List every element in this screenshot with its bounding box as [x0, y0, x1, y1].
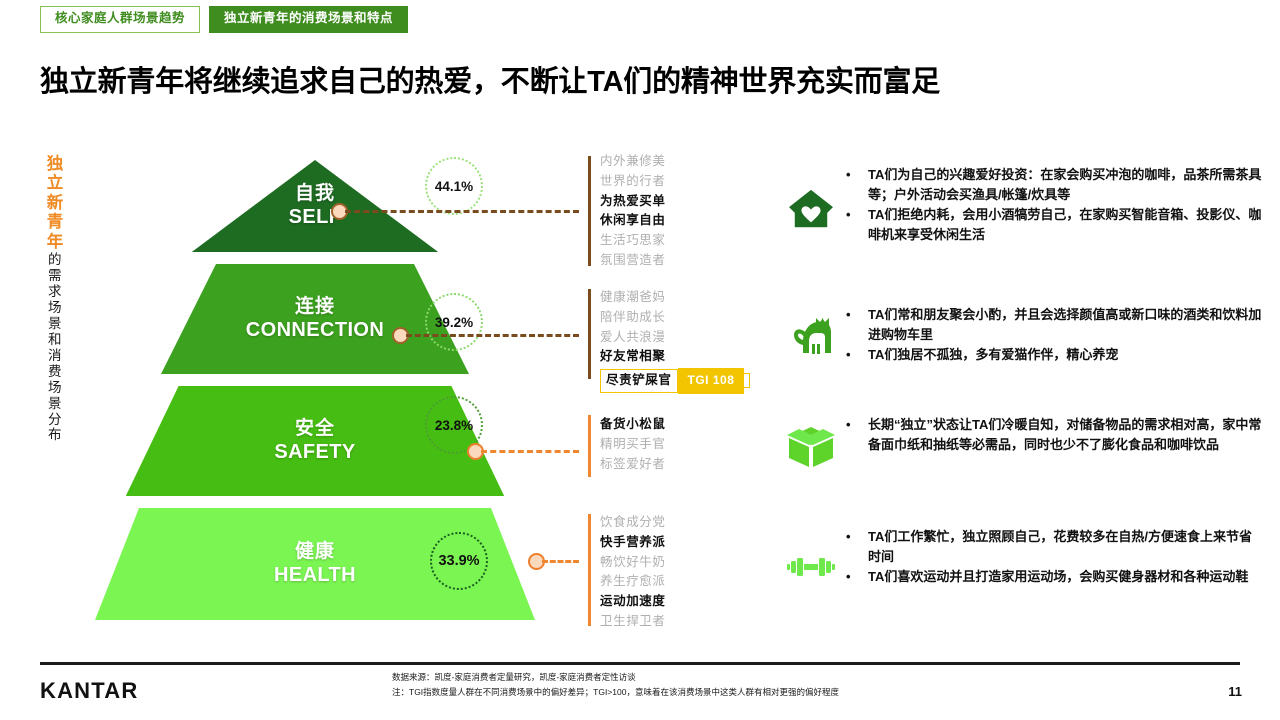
insight-list-health: • TA们工作繁忙，独立照顾自己，花费较多在自热/方便速食上来节省时间 • TA…: [846, 527, 1264, 587]
bullet-marker: •: [846, 567, 868, 587]
percent-badge-health: 33.9%: [430, 532, 488, 590]
trait-item: 备货小松鼠: [600, 415, 666, 435]
tier-label-en-safety: SAFETY: [274, 440, 355, 464]
insight-text: TA们喜欢运动并且打造家用运动场，会购买健身器材和各种运动鞋: [868, 567, 1264, 587]
trait-item: 世界的行者: [600, 172, 666, 192]
connector-bar-safety: [588, 415, 591, 477]
vertical-label-rest: 的需求场景和消费场景分布: [42, 252, 68, 443]
tgi-trait-name: 尽责铲屎官: [600, 369, 678, 394]
source-note: 数据来源：凯度-家庭消费者定量研究，凯度-家庭消费者定性访谈 注：TGI指数度量…: [392, 670, 839, 700]
insight-item: • TA们独居不孤独，多有爱猫作伴，精心养宠: [846, 345, 1264, 365]
connector-line-safety: [481, 450, 579, 453]
page-number: 11: [1228, 684, 1242, 699]
source-line-2: 注：TGI指数度量人群在不同消费场景中的偏好差异；TGI>100，意味着在该消费…: [392, 685, 839, 700]
insight-text: TA们常和朋友聚会小酌，并且会选择颜值高或新口味的酒类和饮料加进购物车里: [868, 305, 1264, 345]
connector-line-self: [345, 210, 579, 213]
trait-item: 好友常相聚: [600, 347, 750, 367]
insight-item: • TA们拒绝内耗，会用小酒犒劳自己，在家购买智能音箱、投影仪、咖啡机来享受休闲…: [846, 205, 1264, 245]
tgi-badge: TGI 108: [678, 368, 745, 394]
trait-item: 内外兼修美: [600, 152, 666, 172]
trait-item: 卫生捍卫者: [600, 612, 666, 632]
trait-item: 生活巧思家: [600, 231, 666, 251]
insight-list-self: • TA们为自己的兴趣爱好投资：在家会购买冲泡的咖啡，品茶所需茶具等；户外活动会…: [846, 165, 1264, 246]
trait-list-health: 饮食成分党 快手营养派 畅饮好牛奶 养生疗愈派 运动加速度 卫生捍卫者: [600, 513, 666, 632]
percent-badge-connection: 39.2%: [425, 293, 483, 351]
page-title: 独立新青年将继续追求自己的热爱，不断让TA们的精神世界充实而富足: [40, 58, 940, 100]
bullet-marker: •: [846, 415, 868, 435]
tab-bar: 核心家庭人群场景趋势 独立新青年的消费场景和特点: [40, 6, 408, 33]
bullet-marker: •: [846, 345, 868, 365]
trait-item: 饮食成分党: [600, 513, 666, 533]
trait-item: 运动加速度: [600, 592, 666, 612]
insight-text: TA们拒绝内耗，会用小酒犒劳自己，在家购买智能音箱、投影仪、咖啡机来享受休闲生活: [868, 205, 1264, 245]
insight-item: • TA们喜欢运动并且打造家用运动场，会购买健身器材和各种运动鞋: [846, 567, 1264, 587]
insight-item: • TA们常和朋友聚会小酌，并且会选择颜值高或新口味的酒类和饮料加进购物车里: [846, 305, 1264, 345]
trait-list-connection: 健康潮爸妈 陪伴助成长 爱人共浪漫 好友常相聚 尽责铲屎官 TGI 108: [600, 288, 750, 394]
tier-label-cn-safety: 安全: [274, 418, 355, 440]
trait-item: 爱人共浪漫: [600, 328, 750, 348]
footer-divider: [40, 662, 1240, 665]
tab-core-family[interactable]: 核心家庭人群场景趋势: [40, 6, 200, 33]
connector-line-connection: [406, 334, 579, 337]
tier-label-cn-health: 健康: [274, 541, 356, 563]
source-line-1: 数据来源：凯度-家庭消费者定量研究，凯度-家庭消费者定性访谈: [392, 670, 839, 685]
trait-item: 休闲享自由: [600, 211, 666, 231]
tier-label-en-connection: CONNECTION: [246, 318, 384, 342]
trait-item: 快手营养派: [600, 533, 666, 553]
bullet-marker: •: [846, 305, 868, 325]
tier-label-cn-self: 自我: [289, 183, 342, 205]
insight-list-safety: • 长期“独立”状态让TA们冷暖自知，对储备物品的需求相对高，家中常备面巾纸和抽…: [846, 415, 1264, 455]
trait-item: 养生疗愈派: [600, 572, 666, 592]
trait-item: 畅饮好牛奶: [600, 553, 666, 573]
home-heart-icon: [782, 180, 840, 238]
vertical-label-highlight: 独立新青年: [42, 155, 68, 252]
cat-icon: [782, 308, 840, 366]
trait-item: 陪伴助成长: [600, 308, 750, 328]
insight-text: TA们为自己的兴趣爱好投资：在家会购买冲泡的咖啡，品茶所需茶具等；户外活动会买渔…: [868, 165, 1264, 205]
insight-text: TA们独居不孤独，多有爱猫作伴，精心养宠: [868, 345, 1264, 365]
trait-item: 健康潮爸妈: [600, 288, 750, 308]
insight-text: 长期“独立”状态让TA们冷暖自知，对储备物品的需求相对高，家中常备面巾纸和抽纸等…: [868, 415, 1264, 455]
trait-item: 氛围营造者: [600, 251, 666, 271]
tier-label-cn-connection: 连接: [246, 296, 384, 318]
bullet-marker: •: [846, 527, 868, 547]
tab-independent-youth[interactable]: 独立新青年的消费场景和特点: [209, 6, 408, 33]
tier-label-en-health: HEALTH: [274, 563, 356, 587]
trait-item: 标签爱好者: [600, 455, 666, 475]
insight-item: • 长期“独立”状态让TA们冷暖自知，对储备物品的需求相对高，家中常备面巾纸和抽…: [846, 415, 1264, 455]
tgi-badge-cap: [744, 373, 750, 388]
connector-bar-connection: [588, 289, 591, 379]
insight-text: TA们工作繁忙，独立照顾自己，花费较多在自热/方便速食上来节省时间: [868, 527, 1264, 567]
open-box-icon: [782, 418, 840, 476]
dumbbell-icon: [782, 538, 840, 596]
insight-list-connection: • TA们常和朋友聚会小酌，并且会选择颜值高或新口味的酒类和饮料加进购物车里 •…: [846, 305, 1264, 365]
vertical-axis-label: 独立新青年 的需求场景和消费场景分布: [42, 155, 68, 443]
bullet-marker: •: [846, 165, 868, 185]
connector-bar-health: [588, 514, 591, 626]
trait-list-safety: 备货小松鼠 精明买手官 标签爱好者: [600, 415, 666, 474]
insight-item: • TA们工作繁忙，独立照顾自己，花费较多在自热/方便速食上来节省时间: [846, 527, 1264, 567]
insight-item: • TA们为自己的兴趣爱好投资：在家会购买冲泡的咖啡，品茶所需茶具等；户外活动会…: [846, 165, 1264, 205]
trait-list-self: 内外兼修美 世界的行者 为热爱买单 休闲享自由 生活巧思家 氛围营造者: [600, 152, 666, 271]
trait-item: 精明买手官: [600, 435, 666, 455]
percent-badge-self: 44.1%: [425, 157, 483, 215]
kantar-logo: KANTAR: [40, 678, 138, 704]
connector-line-health: [542, 560, 579, 563]
tgi-highlight-row: 尽责铲屎官 TGI 108: [600, 368, 750, 394]
bullet-marker: •: [846, 205, 868, 225]
trait-item: 为热爱买单: [600, 192, 666, 212]
connector-bar-self: [588, 156, 591, 266]
